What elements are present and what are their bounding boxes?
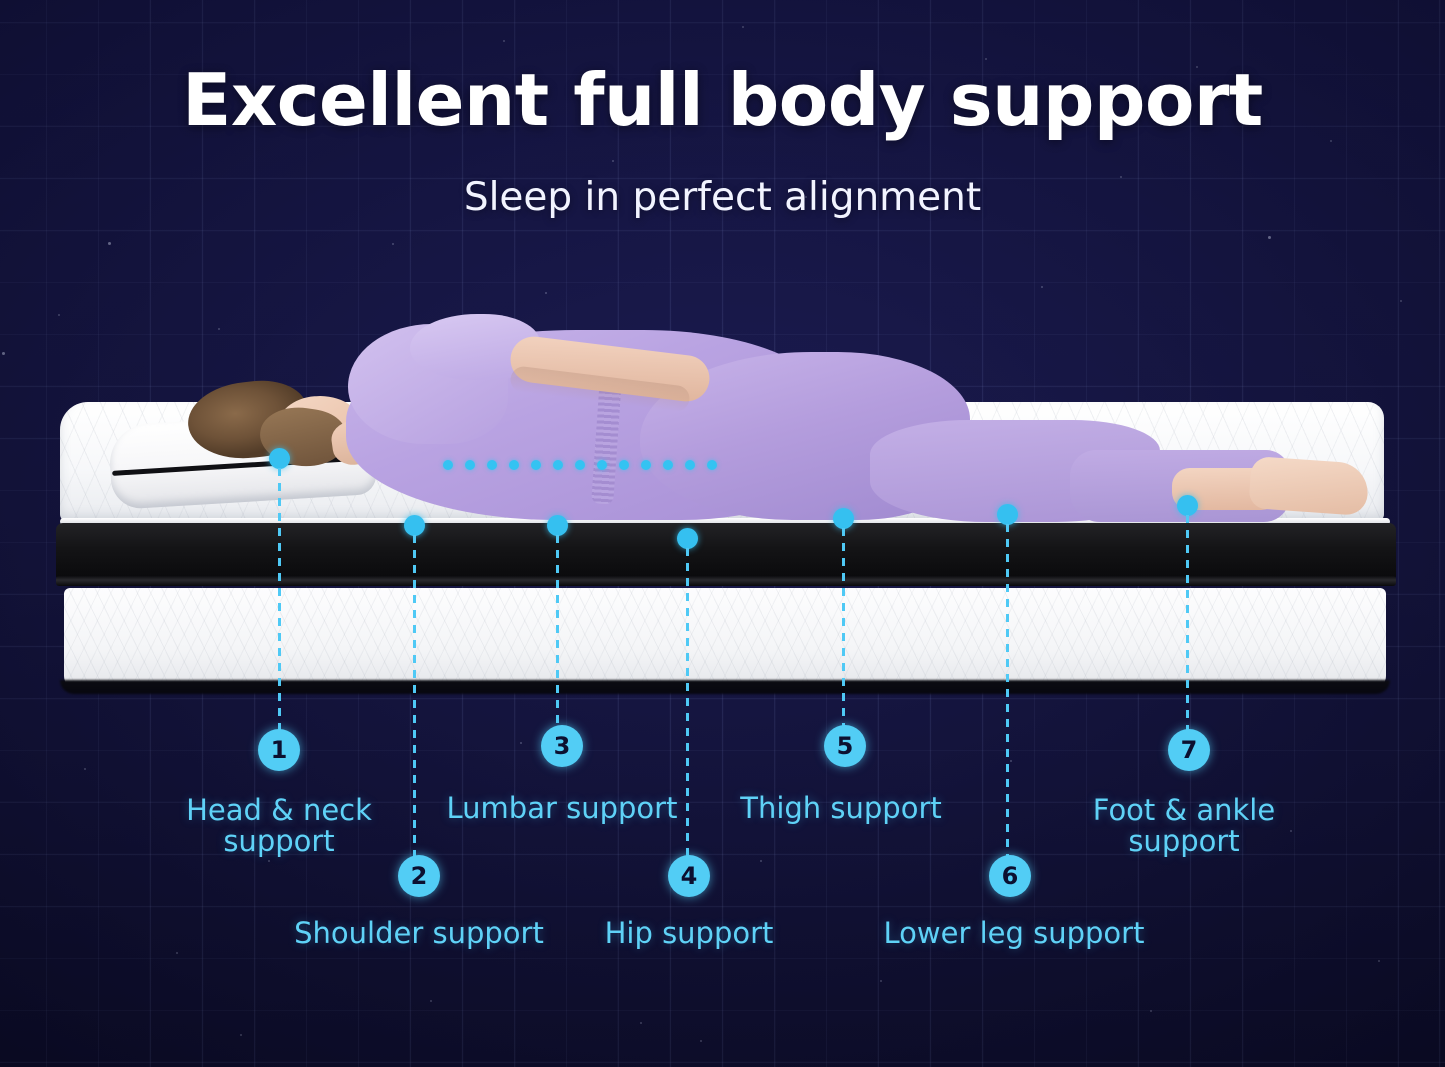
spine-dot	[685, 460, 695, 470]
callout-label-4: Hip support	[499, 918, 879, 949]
callout-anchor-dot	[547, 515, 568, 536]
callout-label-6: Lower leg support	[824, 918, 1204, 949]
star-dot	[612, 160, 614, 162]
spine-dot	[575, 460, 585, 470]
callout-leader-line	[278, 468, 281, 753]
callout-badge-6[interactable]: 6	[989, 855, 1031, 897]
star-dot	[700, 1040, 702, 1042]
callout-leader-line	[686, 548, 689, 880]
spine-dot	[707, 460, 717, 470]
mattress-gusset-band	[56, 523, 1396, 579]
callout-label-7: Foot & ankle support	[994, 795, 1374, 858]
star-dot	[240, 1034, 242, 1036]
callout-anchor-dot	[269, 448, 290, 469]
spine-dot	[443, 460, 453, 470]
spine-dot	[465, 460, 475, 470]
star-dot	[503, 40, 505, 42]
star-dot	[392, 243, 394, 245]
star-dot	[58, 314, 60, 316]
foot	[1248, 456, 1369, 516]
star-dot	[84, 768, 86, 770]
spine-dot	[619, 460, 629, 470]
spine-dot	[509, 460, 519, 470]
star-dot	[108, 242, 111, 245]
spine-dot	[531, 460, 541, 470]
spine-dot	[641, 460, 651, 470]
callout-leader-line	[413, 535, 416, 880]
page-subtitle: Sleep in perfect alignment	[0, 175, 1445, 220]
star-dot	[880, 980, 882, 982]
sleeping-person	[110, 300, 1310, 530]
star-dot	[760, 860, 762, 862]
page-title: Excellent full body support	[0, 58, 1445, 142]
spine-dot	[663, 460, 673, 470]
mattress-band-seam	[56, 576, 1396, 586]
callout-anchor-dot	[677, 528, 698, 549]
star-dot	[1010, 760, 1012, 762]
star-dot	[520, 742, 522, 744]
callout-anchor-dot	[1177, 495, 1198, 516]
star-dot	[1268, 236, 1271, 239]
star-dot	[268, 860, 270, 862]
star-dot	[545, 292, 547, 294]
star-dot	[640, 1022, 642, 1024]
spine-dot	[553, 460, 563, 470]
callout-badge-5[interactable]: 5	[824, 725, 866, 767]
callout-badge-4[interactable]: 4	[668, 855, 710, 897]
callout-anchor-dot	[404, 515, 425, 536]
callout-leader-line	[556, 535, 559, 750]
mattress-bottom-shadow	[60, 680, 1390, 694]
star-dot	[1378, 960, 1380, 962]
spine-dot	[487, 460, 497, 470]
star-dot	[430, 1000, 432, 1002]
callout-anchor-dot	[997, 504, 1018, 525]
callout-leader-line	[1186, 515, 1189, 750]
star-dot	[742, 26, 744, 28]
callout-leader-line	[842, 528, 845, 750]
star-dot	[1400, 300, 1402, 302]
callout-anchor-dot	[833, 508, 854, 529]
star-dot	[1041, 286, 1043, 288]
callout-badge-1[interactable]: 1	[258, 729, 300, 771]
callout-badge-2[interactable]: 2	[398, 855, 440, 897]
infographic-canvas: Excellent full body support Sleep in per…	[0, 0, 1445, 1067]
spine-dot	[597, 460, 607, 470]
callout-label-5: Thigh support	[651, 793, 1031, 824]
star-dot	[2, 352, 5, 355]
star-dot	[176, 952, 178, 954]
callout-badge-3[interactable]: 3	[541, 725, 583, 767]
star-dot	[1150, 1010, 1152, 1012]
callout-badge-7[interactable]: 7	[1168, 729, 1210, 771]
